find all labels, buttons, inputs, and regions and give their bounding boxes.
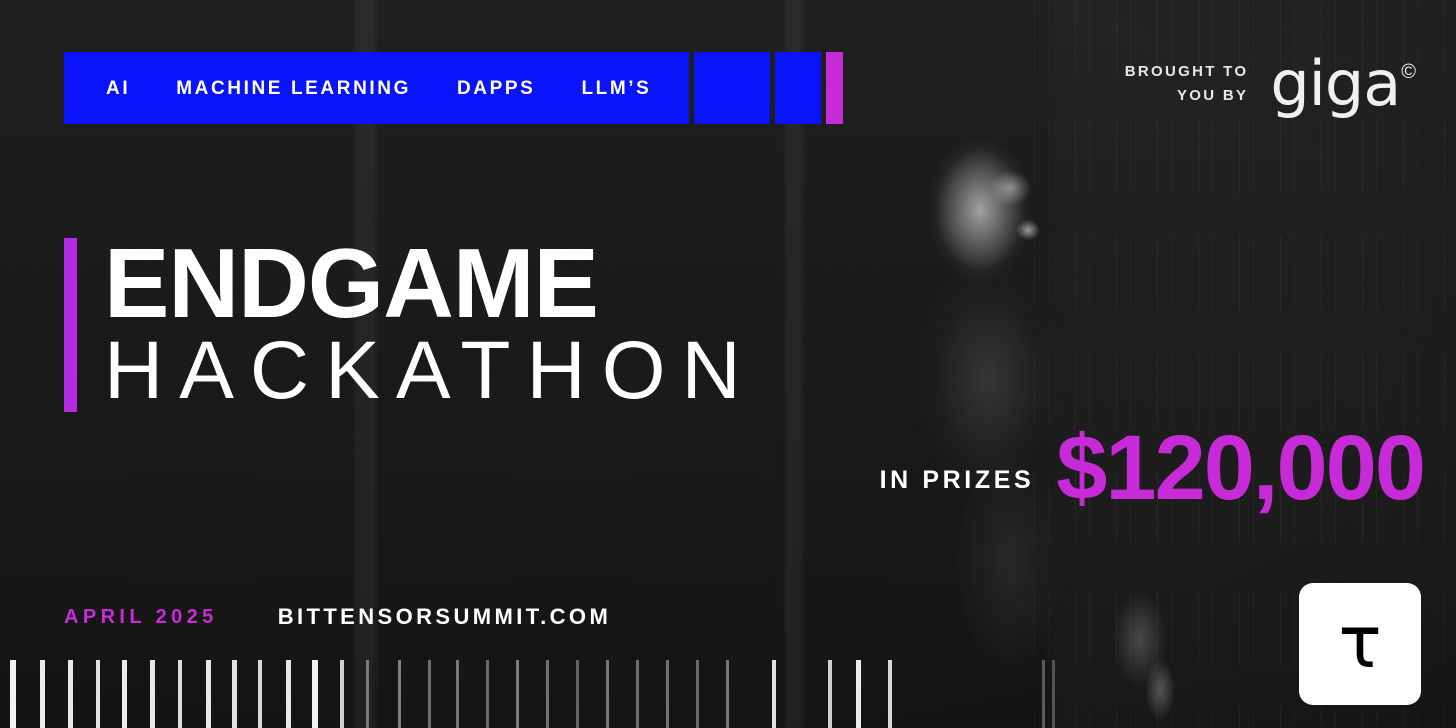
- giga-logo: giga ©: [1270, 55, 1416, 112]
- topic-item-dapps[interactable]: DAPPS: [457, 79, 535, 98]
- footer-block: APRIL 2025 BITTENSORSUMMIT.COM: [64, 604, 611, 630]
- topic-chip-blue-wide: [694, 52, 770, 124]
- prize-label: IN PRIZES: [880, 466, 1035, 509]
- bittensor-logo-tile: τ: [1299, 583, 1421, 705]
- barcode-strip: [0, 650, 1456, 728]
- topic-item-llms[interactable]: LLM’S: [581, 79, 651, 98]
- headline-block: ENDGAME HACKATHON: [64, 238, 757, 412]
- sponsor-prefix-line2: YOU BY: [1125, 84, 1249, 107]
- headline-line-endgame: ENDGAME: [104, 238, 757, 328]
- topic-item-machine-learning[interactable]: MACHINE LEARNING: [176, 79, 411, 98]
- topic-chip-blue-narrow: [775, 52, 821, 124]
- hackathon-promo-banner: AI MACHINE LEARNING DAPPS LLM’S BROUGHT …: [0, 0, 1456, 728]
- sponsor-prefix-line1: BROUGHT TO: [1125, 60, 1249, 83]
- event-date: APRIL 2025: [64, 606, 218, 629]
- topic-bar-main: AI MACHINE LEARNING DAPPS LLM’S: [64, 52, 689, 124]
- headline-line-hackathon: HACKATHON: [104, 330, 757, 412]
- copyright-icon: ©: [1401, 61, 1416, 84]
- topic-bar: AI MACHINE LEARNING DAPPS LLM’S: [64, 52, 843, 124]
- topic-chip-magenta: [826, 52, 843, 124]
- prize-amount: $120,000: [1056, 428, 1424, 509]
- topic-item-ai[interactable]: AI: [106, 79, 130, 98]
- prize-block: IN PRIZES $120,000: [880, 428, 1424, 509]
- headline-accent-bar: [64, 238, 77, 412]
- event-website-url[interactable]: BITTENSORSUMMIT.COM: [278, 604, 611, 630]
- headline-text: ENDGAME HACKATHON: [104, 238, 757, 412]
- sponsor-prefix: BROUGHT TO YOU BY: [1125, 60, 1249, 107]
- tau-icon: τ: [1338, 606, 1381, 678]
- sponsor-block: BROUGHT TO YOU BY giga ©: [1125, 55, 1416, 112]
- giga-logo-wordmark: giga: [1270, 55, 1400, 112]
